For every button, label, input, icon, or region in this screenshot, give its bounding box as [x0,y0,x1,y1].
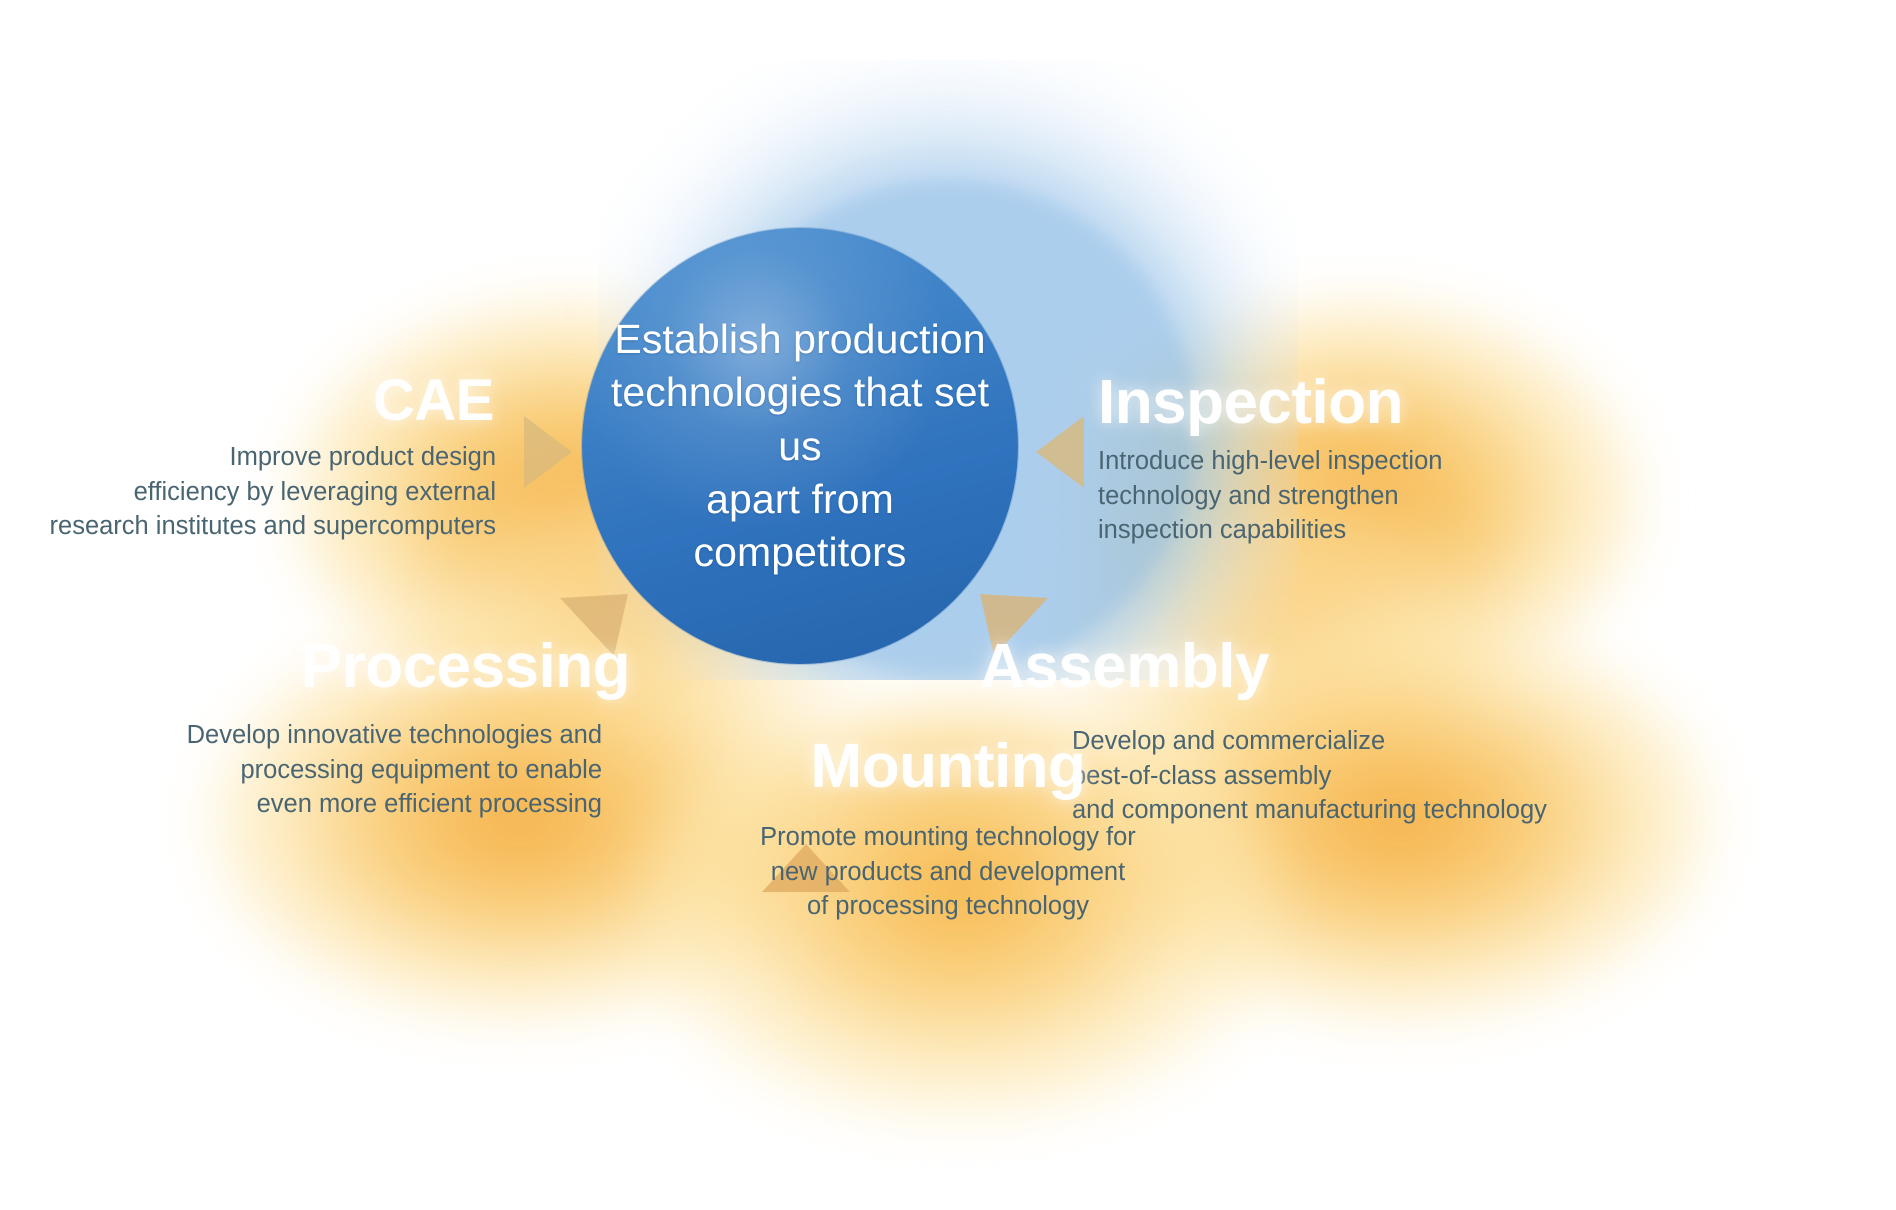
node-cae-description-line-2: efficiency by leveraging external [0,475,496,510]
node-processing-description-line-2: processing equipment to enable [60,753,602,788]
node-inspection-heading: Inspection [1098,372,1818,434]
node-processing-description: Develop innovative technologies and proc… [60,718,630,822]
node-cae-heading: CAE [0,372,502,430]
central-statement-line-3: apart from competitors [608,473,992,580]
node-mounting-description-line-3: of processing technology [598,889,1298,924]
node-cae: CAE Improve product design efficiency by… [0,372,502,544]
arrow-right-icon [524,416,572,488]
node-mounting: Mounting Promote mounting technology for… [598,736,1298,924]
node-inspection-description-line-1: Introduce high-level inspection [1098,444,1818,479]
node-inspection-description: Introduce high-level inspection technolo… [1098,444,1818,548]
central-statement-line-1: Establish production [608,313,992,366]
node-mounting-description: Promote mounting technology for new prod… [598,820,1298,924]
node-inspection-description-line-3: inspection capabilities [1098,513,1818,548]
node-cae-description-line-3: research institutes and supercomputers [0,509,496,544]
diagram-canvas: Establish production technologies that s… [0,0,1896,1210]
node-inspection-description-line-2: technology and strengthen [1098,479,1818,514]
central-statement-line-2: technologies that set us [608,366,992,473]
node-inspection: Inspection Introduce high-level inspecti… [1098,372,1818,548]
node-processing-description-line-1: Develop innovative technologies and [60,718,602,753]
node-processing-heading: Processing [60,636,630,698]
node-cae-description-line-1: Improve product design [0,440,496,475]
node-mounting-heading: Mounting [598,736,1298,798]
node-processing-description-line-3: even more efficient processing [60,787,602,822]
arrow-left-icon [1036,416,1084,488]
central-sphere: Establish production technologies that s… [582,228,1018,664]
node-mounting-description-line-1: Promote mounting technology for [598,820,1298,855]
node-mounting-description-line-2: new products and development [598,855,1298,890]
node-cae-description: Improve product design efficiency by lev… [0,440,502,544]
node-assembly-heading: Assembly [980,636,1820,698]
central-statement: Establish production technologies that s… [582,313,1018,579]
node-processing: Processing Develop innovative technologi… [60,636,630,822]
